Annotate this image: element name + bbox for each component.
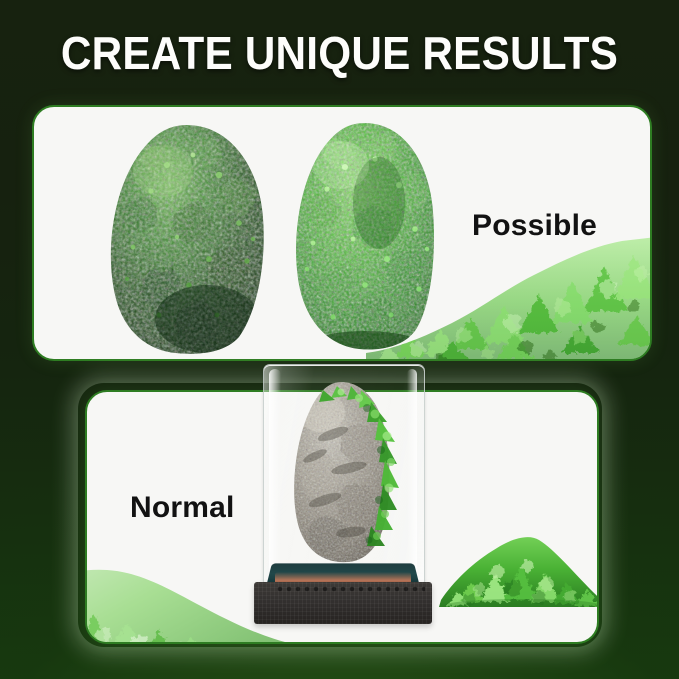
possible-results-panel: Possible: [32, 105, 652, 361]
case-base-vent-holes: [277, 586, 425, 593]
infographic-canvas: CREATE UNIQUE RESULTS: [0, 0, 679, 679]
green-crystal-cluster-top-panel: [366, 237, 652, 361]
normal-label: Normal: [130, 491, 235, 525]
page-title: CREATE UNIQUE RESULTS: [27, 26, 652, 80]
crystal-pile-svg: [435, 522, 599, 607]
possible-label: Possible: [472, 209, 597, 243]
case-right-highlight: [407, 369, 417, 573]
crystal-cluster-svg: [366, 237, 652, 361]
dark-green-crystal-geode: [97, 119, 277, 359]
gray-rock-in-display-case: [263, 364, 423, 622]
gray-rock-specimen-svg: [263, 364, 423, 582]
case-left-highlight: [269, 369, 281, 573]
dark-geode-svg: [97, 119, 277, 359]
loose-green-crystal-pile: [435, 522, 599, 607]
